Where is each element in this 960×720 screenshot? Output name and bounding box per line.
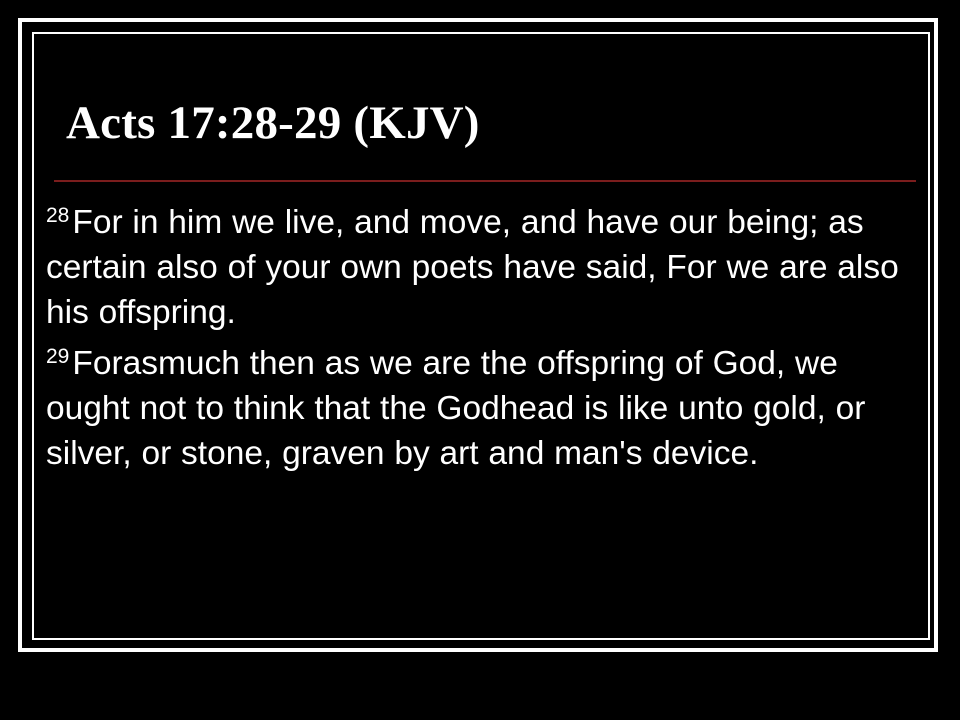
scripture-body: 28For in him we live, and move, and have… <box>46 200 918 476</box>
title-divider-rule <box>54 180 916 182</box>
slide: Acts 17:28-29 (KJV) 28For in him we live… <box>0 0 960 720</box>
verse-text: Forasmuch then as we are the offspring o… <box>46 345 865 472</box>
verse-number: 29 <box>46 345 72 368</box>
slide-content: Acts 17:28-29 (KJV) 28For in him we live… <box>40 40 920 632</box>
verse-paragraph: 29Forasmuch then as we are the offspring… <box>46 341 918 476</box>
slide-title: Acts 17:28-29 (KJV) <box>66 98 480 148</box>
verse-text: For in him we live, and move, and have o… <box>46 204 899 331</box>
verse-number: 28 <box>46 204 72 227</box>
verse-paragraph: 28For in him we live, and move, and have… <box>46 200 918 335</box>
